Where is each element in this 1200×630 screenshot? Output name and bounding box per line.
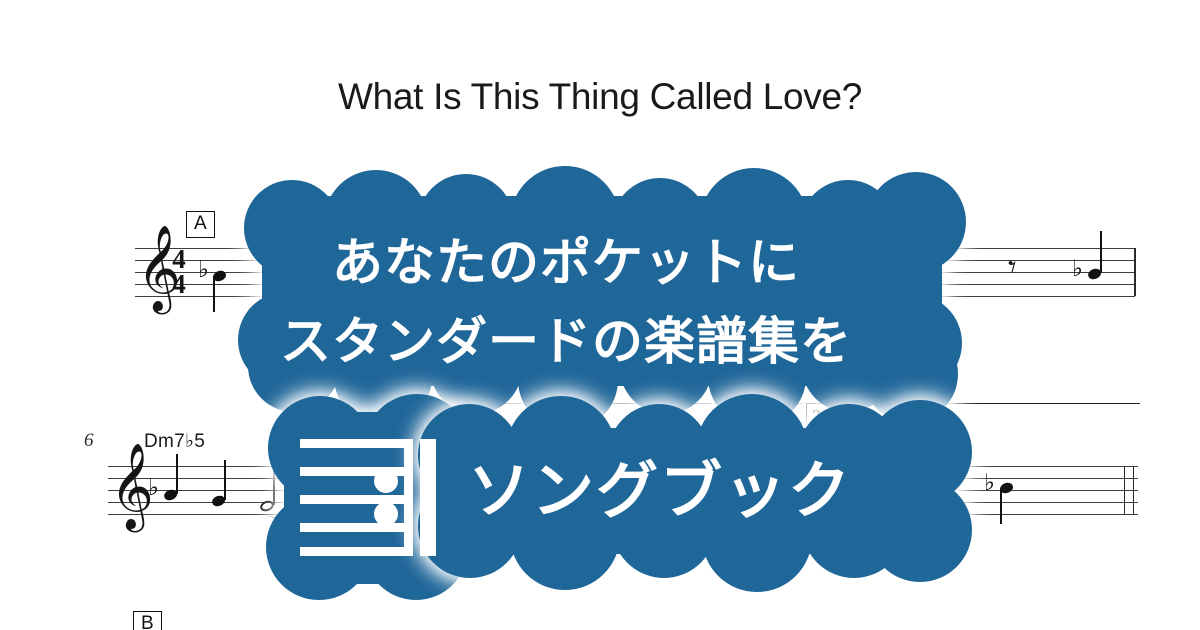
measure-number: 6 xyxy=(84,430,94,452)
note-stem xyxy=(1100,231,1102,273)
staff-line xyxy=(135,284,1135,285)
final-barline-thin xyxy=(1133,466,1134,514)
poster-canvas: What Is This Thing Called Love? 𝄞 4 4 ♭ xyxy=(0,0,1200,630)
staff-system-2: 𝄞 ♭ 𝄾 ♭ xyxy=(108,466,1138,526)
staff-line xyxy=(108,466,1138,467)
half-rest xyxy=(920,268,933,273)
chord-symbol: Cmaj7 xyxy=(492,430,548,452)
note-stem xyxy=(224,460,226,500)
chord-symbol: Gm7♭5 xyxy=(312,206,374,229)
quarter-rest: 𝄾 xyxy=(920,470,929,502)
ending-label: 1 xyxy=(482,406,491,427)
quarter-rest: 𝄾 xyxy=(1008,251,1017,283)
chord-symbol: Dm7♭5 xyxy=(144,430,205,453)
chord-symbol: Fm xyxy=(777,206,805,228)
note-stem xyxy=(1000,488,1002,524)
chord-symbol: C xyxy=(818,430,832,452)
flat-accidental: ♭ xyxy=(148,477,159,500)
rehearsal-mark-a: A xyxy=(186,211,215,238)
tie xyxy=(268,510,302,519)
barline xyxy=(347,248,348,296)
staff-line xyxy=(135,260,1135,261)
ending-bracket-2: 2 xyxy=(806,403,1140,425)
time-signature: 4 4 xyxy=(169,247,189,297)
flat-accidental: ♭ xyxy=(198,259,209,282)
sheet-music-layer: 𝄞 4 4 ♭ 𝄾 ♭ A Gm7♭5 C7 Fm xyxy=(0,0,1200,630)
staff-line xyxy=(108,514,1138,515)
ending-label: 2 xyxy=(812,406,821,427)
note-stem xyxy=(176,454,178,494)
system-end-barline xyxy=(1134,248,1136,296)
barline xyxy=(340,248,342,296)
ending-bracket-1: 1 xyxy=(476,403,802,425)
flat-accidental: ♭ xyxy=(984,472,995,495)
flat-accidental: ♭ xyxy=(1072,258,1083,281)
staff-line xyxy=(135,248,1135,249)
chord-symbol: C7 xyxy=(538,206,563,228)
note-stem xyxy=(273,465,275,505)
final-barline-thin xyxy=(1124,466,1125,514)
staff-line xyxy=(135,272,1135,273)
chord-symbol: C7♭13 xyxy=(326,430,382,453)
staff-line xyxy=(135,296,1135,297)
note-stem xyxy=(213,276,215,312)
rehearsal-mark-b: B xyxy=(133,611,162,630)
staff-system-1: 𝄞 4 4 ♭ 𝄾 ♭ xyxy=(135,248,1135,308)
staff-lines-1 xyxy=(135,248,1135,296)
